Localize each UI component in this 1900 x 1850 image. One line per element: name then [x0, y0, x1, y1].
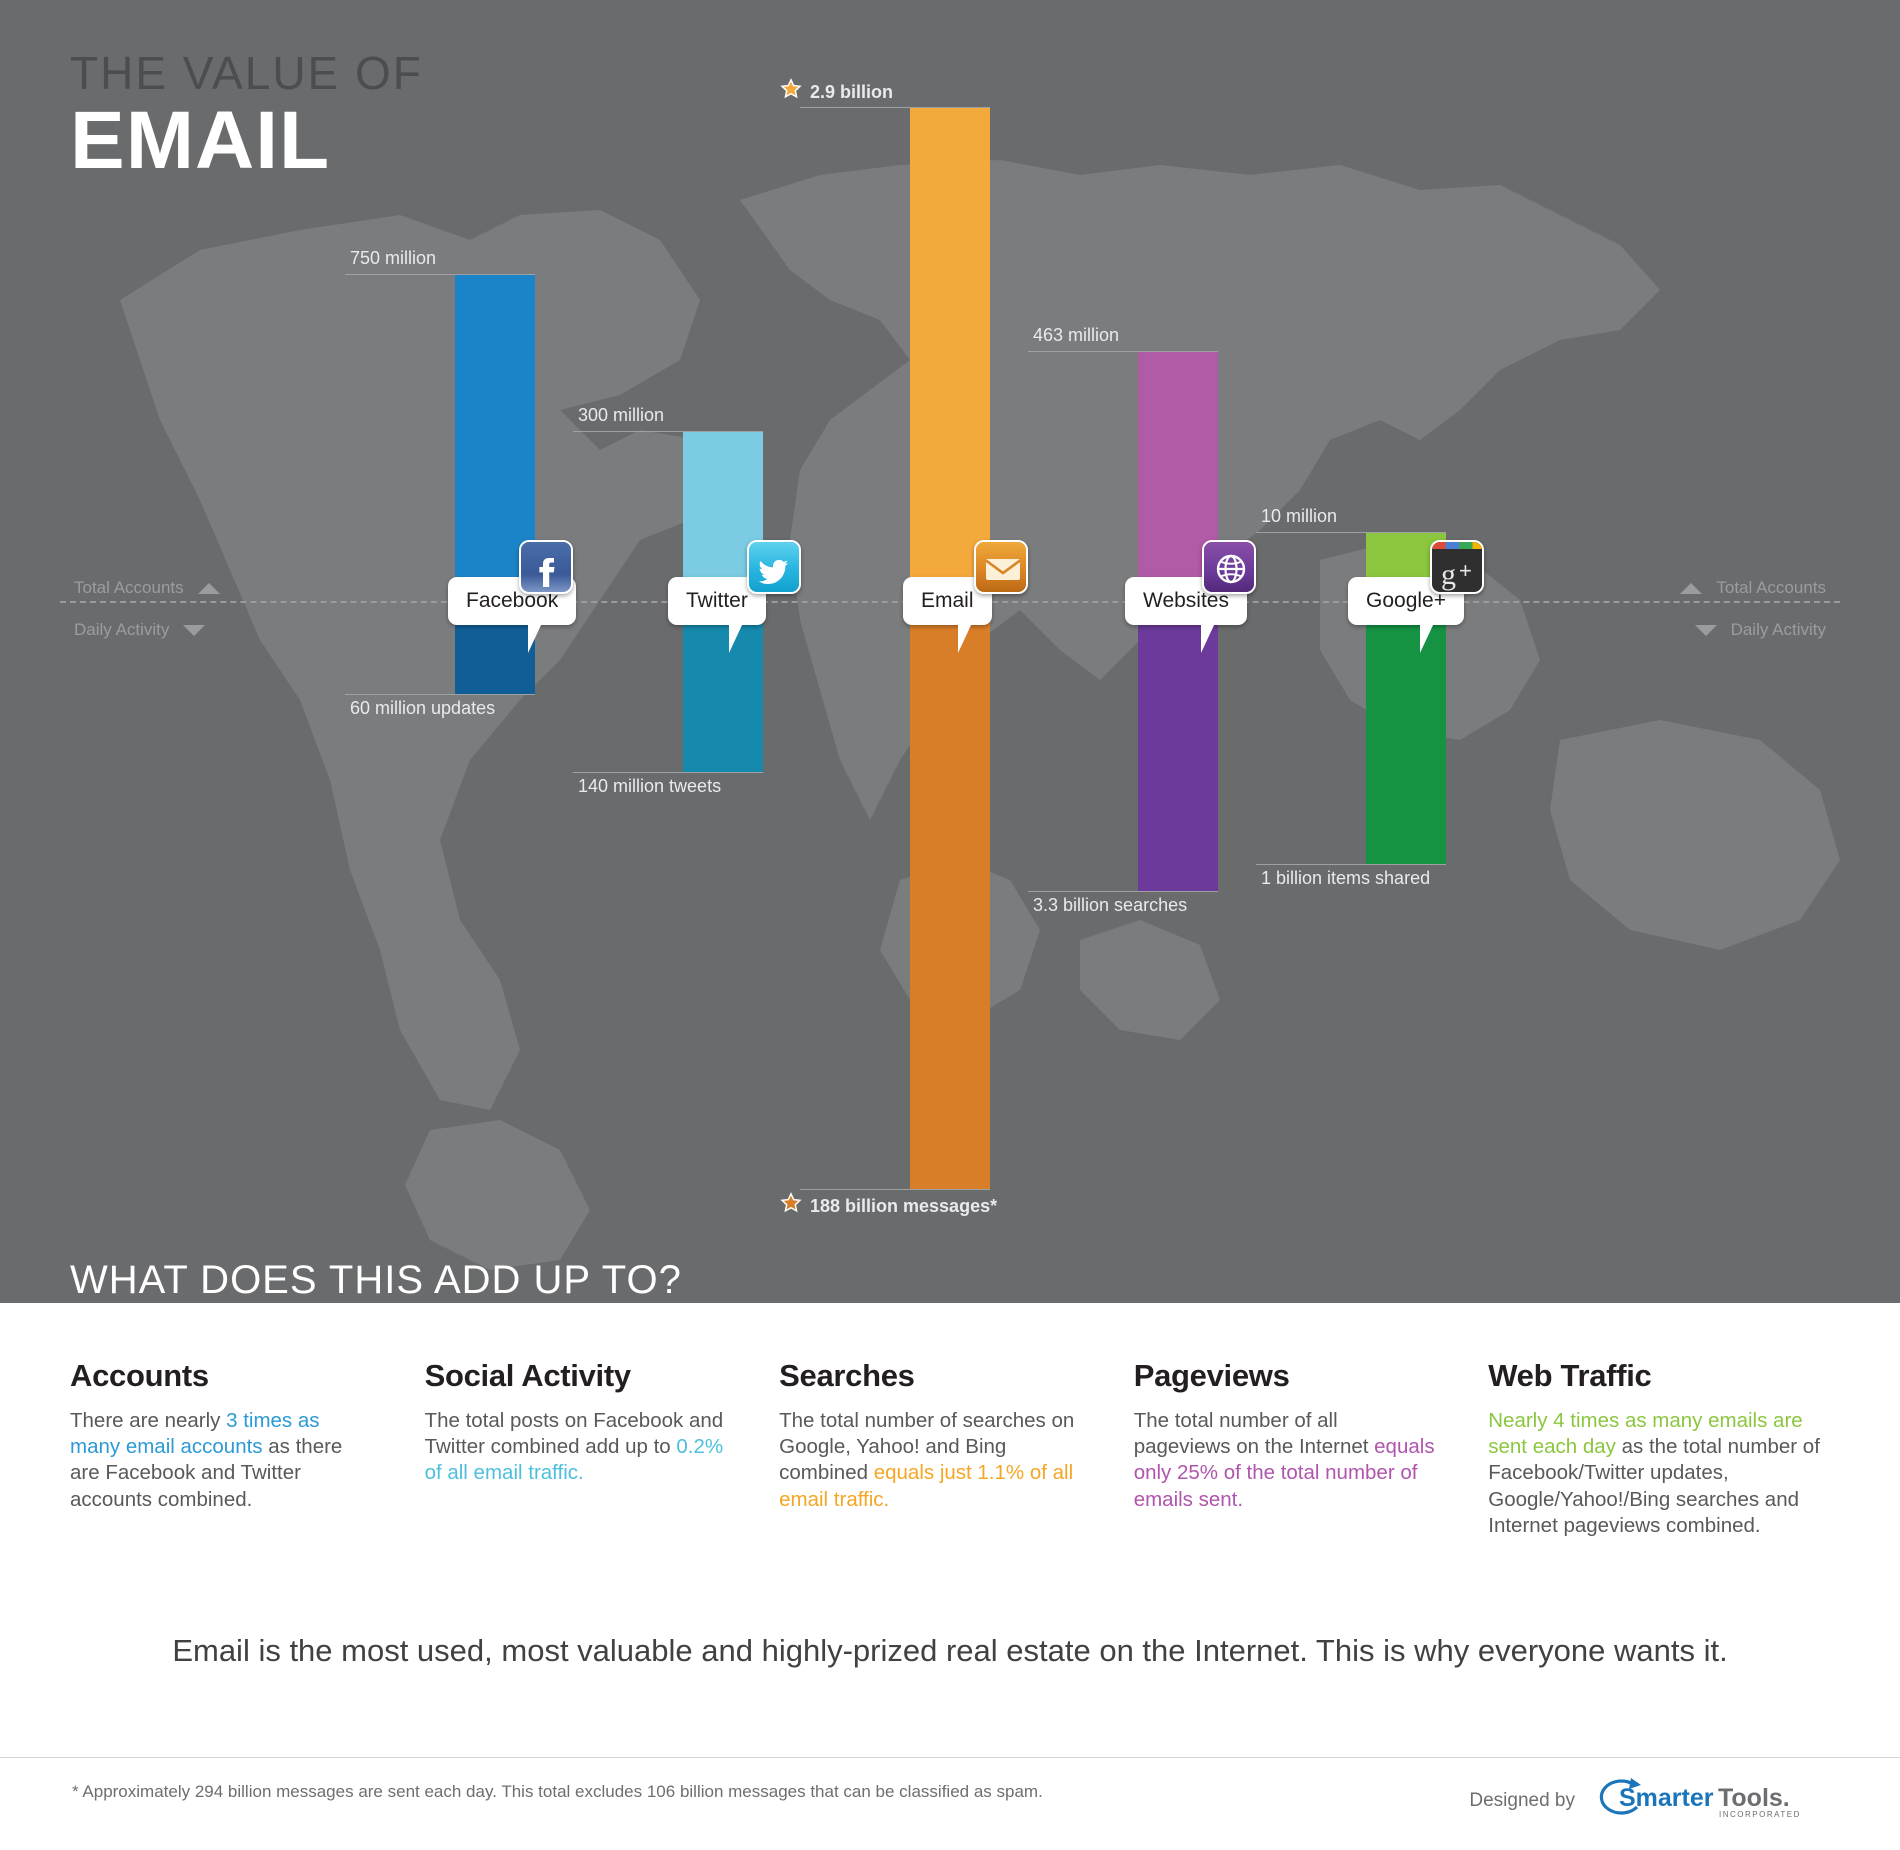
axis-legend-left-total-accounts: Total Accounts [74, 578, 220, 598]
axis-legend-left-daily-activity-label: Daily Activity [74, 620, 169, 640]
summary-column-web-traffic-title: Web Traffic [1488, 1358, 1840, 1394]
triangle-up-icon [1680, 583, 1702, 594]
twitter-icon[interactable] [747, 540, 801, 594]
facebook-icon[interactable] [519, 540, 573, 594]
value-facebook-top: 750 million [350, 248, 436, 273]
summary-column-searches-title: Searches [779, 1358, 1082, 1394]
triangle-down-icon [183, 625, 205, 636]
value-email-bottom-text: 188 billion messages* [810, 1196, 997, 1216]
summary-column-accounts: Accounts There are nearly 3 times as man… [70, 1358, 425, 1539]
leader-facebook-bottom [345, 694, 535, 695]
credit-block: Designed by Smarter Tools. INCORPORATED [1469, 1775, 1828, 1826]
value-websites-bottom: 3.3 billion searches [1033, 895, 1187, 920]
svg-text:Tools.: Tools. [1718, 1784, 1790, 1812]
value-twitter-bottom: 140 million tweets [578, 776, 721, 801]
summary-column-accounts-body: There are nearly 3 times as many email a… [70, 1408, 373, 1513]
svg-text:INCORPORATED: INCORPORATED [1719, 1810, 1801, 1819]
title-line-2: EMAIL [70, 98, 423, 184]
axis-legend-left-daily-activity: Daily Activity [74, 620, 205, 640]
leader-twitter-bottom [573, 772, 763, 773]
svg-text:Smarter: Smarter [1619, 1784, 1714, 1812]
value-websites-top: 463 million [1033, 325, 1119, 350]
summary-column-social-activity-body: The total posts on Facebook and Twitter … [425, 1408, 728, 1487]
leader-email-top [800, 107, 990, 108]
value-facebook-bottom: 60 million updates [350, 698, 495, 723]
summary-column-pageviews: Pageviews The total number of all pagevi… [1134, 1358, 1489, 1539]
star-icon [780, 78, 802, 100]
svg-text:g: g [1441, 558, 1456, 591]
value-googleplus-top: 10 million [1261, 506, 1337, 531]
summary-column-web-traffic: Web Traffic Nearly 4 times as many email… [1488, 1358, 1840, 1539]
summary-heading: WHAT DOES THIS ADD UP TO? [70, 1258, 682, 1303]
summary-column-searches: Searches The total number of searches on… [779, 1358, 1134, 1539]
footnote: * Approximately 294 billion messages are… [72, 1782, 1043, 1802]
summary-column-pageviews-title: Pageviews [1134, 1358, 1437, 1394]
value-twitter-top: 300 million [578, 405, 664, 430]
triangle-down-icon [1695, 625, 1717, 636]
title-line-1: THE VALUE OF [70, 50, 423, 96]
axis-legend-right-daily-activity-label: Daily Activity [1731, 620, 1826, 640]
googleplus-icon[interactable]: g + [1430, 540, 1484, 594]
credit-text: Designed by [1469, 1790, 1575, 1812]
value-email-top-text: 2.9 billion [810, 82, 893, 102]
bar-email-bottom-group[interactable] [910, 601, 990, 1189]
value-email-bottom: 188 billion messages* [780, 1192, 997, 1221]
email-icon[interactable] [974, 540, 1028, 594]
summary-column-searches-body: The total number of searches on Google, … [779, 1408, 1082, 1513]
axis-legend-right-total-accounts-label: Total Accounts [1716, 578, 1826, 598]
smartertools-logo[interactable]: Smarter Tools. INCORPORATED [1593, 1775, 1828, 1826]
leader-googleplus-top [1256, 532, 1446, 533]
axis-legend-right-total-accounts: Total Accounts [1680, 578, 1826, 598]
tagline: Email is the most used, most valuable an… [0, 1633, 1900, 1669]
footer-divider [0, 1757, 1900, 1758]
summary-columns: Accounts There are nearly 3 times as man… [70, 1358, 1840, 1539]
leader-websites-top [1028, 351, 1218, 352]
summary-column-social-activity: Social Activity The total posts on Faceb… [425, 1358, 780, 1539]
text-pre: There are nearly [70, 1409, 226, 1432]
leader-websites-bottom [1028, 891, 1218, 892]
star-icon [780, 1192, 802, 1214]
bar-email-top [910, 108, 990, 601]
axis-legend-left-total-accounts-label: Total Accounts [74, 578, 184, 598]
triangle-up-icon [198, 583, 220, 594]
value-googleplus-bottom: 1 billion items shared [1261, 868, 1430, 893]
svg-text:+: + [1459, 558, 1472, 583]
leader-facebook-top [345, 274, 535, 275]
chart-panel: THE VALUE OF EMAIL Total Accounts Daily … [0, 0, 1900, 1303]
summary-column-social-activity-title: Social Activity [425, 1358, 728, 1394]
bar-email-bottom [910, 601, 990, 1189]
summary-panel: Accounts There are nearly 3 times as man… [0, 1303, 1900, 1850]
page-title: THE VALUE OF EMAIL [70, 50, 423, 184]
bar-email[interactable] [910, 108, 990, 601]
value-email-top: 2.9 billion [780, 78, 893, 107]
axis-legend-right-daily-activity: Daily Activity [1695, 620, 1826, 640]
summary-column-pageviews-body: The total number of all pageviews on the… [1134, 1408, 1437, 1513]
text-pre: The total number of all pageviews on the… [1134, 1409, 1374, 1458]
globe-icon[interactable] [1202, 540, 1256, 594]
leader-email-bottom [800, 1189, 990, 1190]
summary-column-web-traffic-body: Nearly 4 times as many emails are sent e… [1488, 1408, 1840, 1539]
summary-column-accounts-title: Accounts [70, 1358, 373, 1394]
leader-twitter-top [573, 431, 763, 432]
leader-googleplus-bottom [1256, 864, 1446, 865]
